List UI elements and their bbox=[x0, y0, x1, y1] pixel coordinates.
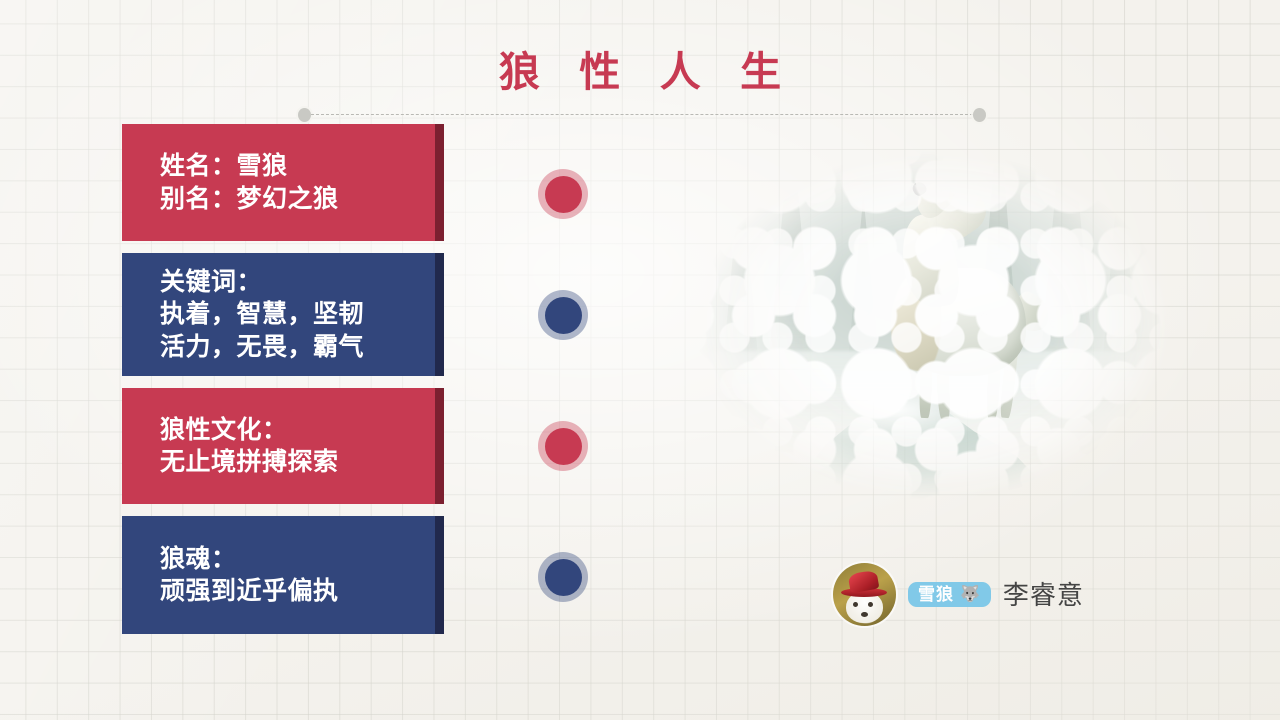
falling-snow bbox=[622, 118, 1188, 550]
info-line: 狼魂： bbox=[160, 543, 434, 576]
box-edge-accent bbox=[435, 516, 444, 634]
wolf-photo bbox=[622, 118, 1188, 550]
info-line: 活力，无畏，霸气 bbox=[160, 331, 434, 364]
author-badge: 雪狼 🐺 bbox=[908, 582, 991, 607]
badge-label: 雪狼 bbox=[918, 586, 954, 603]
info-box-culture[interactable]: 狼性文化： 无止境拼搏探索 bbox=[122, 388, 444, 504]
avatar bbox=[833, 563, 896, 626]
box-edge-accent bbox=[435, 124, 444, 241]
slide-canvas: 狼 性 人 生 姓名：雪狼 别名：梦幻之狼 关键词： 执着，智慧，坚韧 活力，无… bbox=[0, 0, 1280, 720]
timeline-dot-1[interactable] bbox=[538, 169, 588, 219]
divider-cap-right-icon bbox=[973, 108, 986, 122]
info-line: 关键词： bbox=[160, 266, 434, 299]
info-line: 别名：梦幻之狼 bbox=[160, 183, 434, 216]
title-divider bbox=[298, 107, 986, 123]
wolf-face-icon: 🐺 bbox=[960, 587, 981, 603]
timeline-dot-2[interactable] bbox=[538, 290, 588, 340]
box-edge-accent bbox=[435, 388, 444, 504]
author-name: 李睿意 bbox=[1003, 582, 1084, 608]
page-title: 狼 性 人 生 bbox=[0, 52, 1280, 93]
dot-core bbox=[545, 559, 582, 596]
timeline-dot-3[interactable] bbox=[538, 421, 588, 471]
info-box-keywords[interactable]: 关键词： 执着，智慧，坚韧 活力，无畏，霸气 bbox=[122, 253, 444, 376]
info-box-spirit[interactable]: 狼魂： 顽强到近乎偏执 bbox=[122, 516, 444, 634]
info-box-name[interactable]: 姓名：雪狼 别名：梦幻之狼 bbox=[122, 124, 444, 241]
dot-core bbox=[545, 428, 582, 465]
dot-core bbox=[545, 176, 582, 213]
info-line: 无止境拼搏探索 bbox=[160, 446, 434, 479]
dot-core bbox=[545, 297, 582, 334]
red-hat-icon bbox=[841, 573, 888, 597]
timeline-dot-4[interactable] bbox=[538, 552, 588, 602]
box-edge-accent bbox=[435, 253, 444, 376]
divider-dashed-line bbox=[311, 114, 973, 115]
info-line: 狼性文化： bbox=[160, 414, 434, 447]
info-line: 姓名：雪狼 bbox=[160, 150, 434, 183]
info-line: 顽强到近乎偏执 bbox=[160, 575, 434, 608]
author-watermark: 雪狼 🐺 李睿意 bbox=[833, 563, 1084, 626]
divider-cap-left-icon bbox=[298, 108, 311, 122]
info-line: 执着，智慧，坚韧 bbox=[160, 298, 434, 331]
